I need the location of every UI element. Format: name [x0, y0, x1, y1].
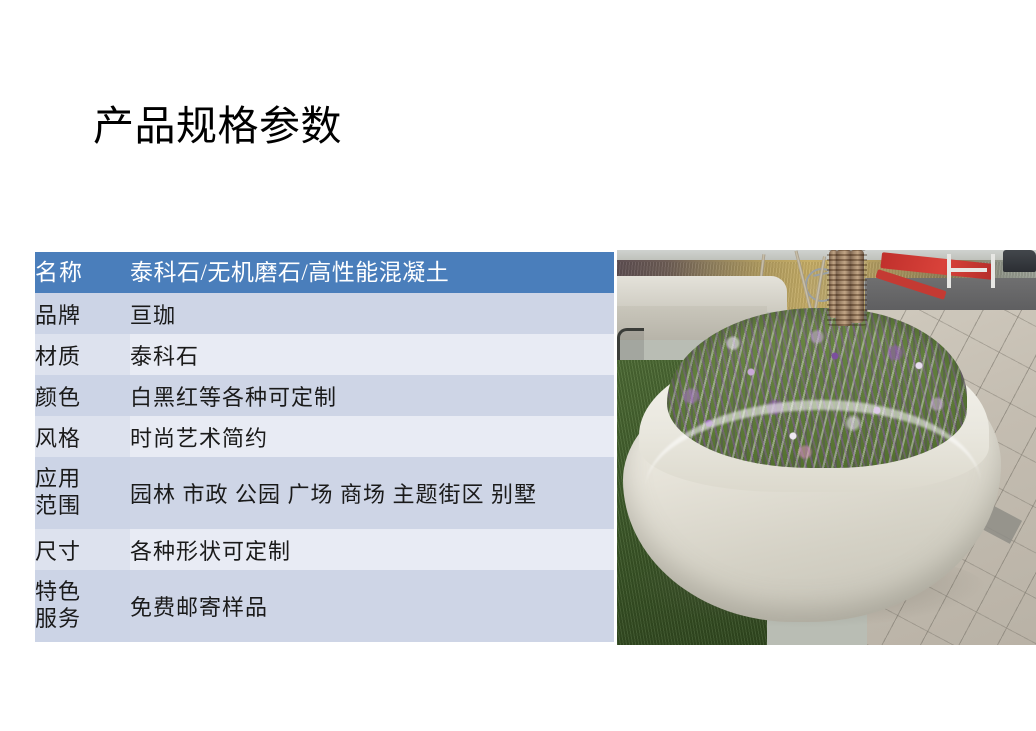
row-label-line2: 服务: [35, 606, 130, 633]
photo-aframe-sign-bar: [947, 268, 987, 272]
row-label-application-scope: 应用 范围: [35, 457, 130, 529]
table-row: 颜色 白黑红等各种可定制: [35, 375, 614, 416]
row-label-special-service: 特色 服务: [35, 570, 130, 642]
row-value-special-service: 免费邮寄样品: [130, 570, 614, 642]
row-label-material: 材质: [35, 334, 130, 375]
page-title: 产品规格参数: [93, 103, 342, 150]
table-row: 材质 泰科石: [35, 334, 614, 375]
table-row: 应用 范围 园林 市政 公园 广场 商场 主题街区 别墅: [35, 457, 614, 529]
table-row: 品牌 亘珈: [35, 293, 614, 334]
table-header-label: 名称: [35, 252, 130, 293]
row-value-style: 时尚艺术简约: [130, 416, 614, 457]
row-value-material: 泰科石: [130, 334, 614, 375]
row-value-brand: 亘珈: [130, 293, 614, 334]
row-label-brand: 品牌: [35, 293, 130, 334]
product-photo: [617, 250, 1036, 645]
table-row: 风格 时尚艺术简约: [35, 416, 614, 457]
row-label-size: 尺寸: [35, 529, 130, 570]
row-label-color: 颜色: [35, 375, 130, 416]
product-spec-table: 名称 泰科石/无机磨石/高性能混凝土 品牌 亘珈 材质 泰科石 颜色 白黑红等各…: [35, 252, 614, 642]
table-header-row: 名称 泰科石/无机磨石/高性能混凝土: [35, 252, 614, 293]
photo-tree-bark-texture: [827, 250, 867, 326]
row-value-size: 各种形状可定制: [130, 529, 614, 570]
table-row: 尺寸 各种形状可定制: [35, 529, 614, 570]
row-label-line2: 范围: [35, 493, 130, 520]
table-row: 特色 服务 免费邮寄样品: [35, 570, 614, 642]
table-header-value: 泰科石/无机磨石/高性能混凝土: [130, 252, 614, 293]
row-label-line1: 特色: [35, 579, 130, 606]
row-label-style: 风格: [35, 416, 130, 457]
row-label-line1: 应用: [35, 466, 130, 493]
row-value-color: 白黑红等各种可定制: [130, 375, 614, 416]
row-value-application-scope: 园林 市政 公园 广场 商场 主题街区 别墅: [130, 457, 614, 529]
photo-parked-car: [1003, 250, 1036, 272]
